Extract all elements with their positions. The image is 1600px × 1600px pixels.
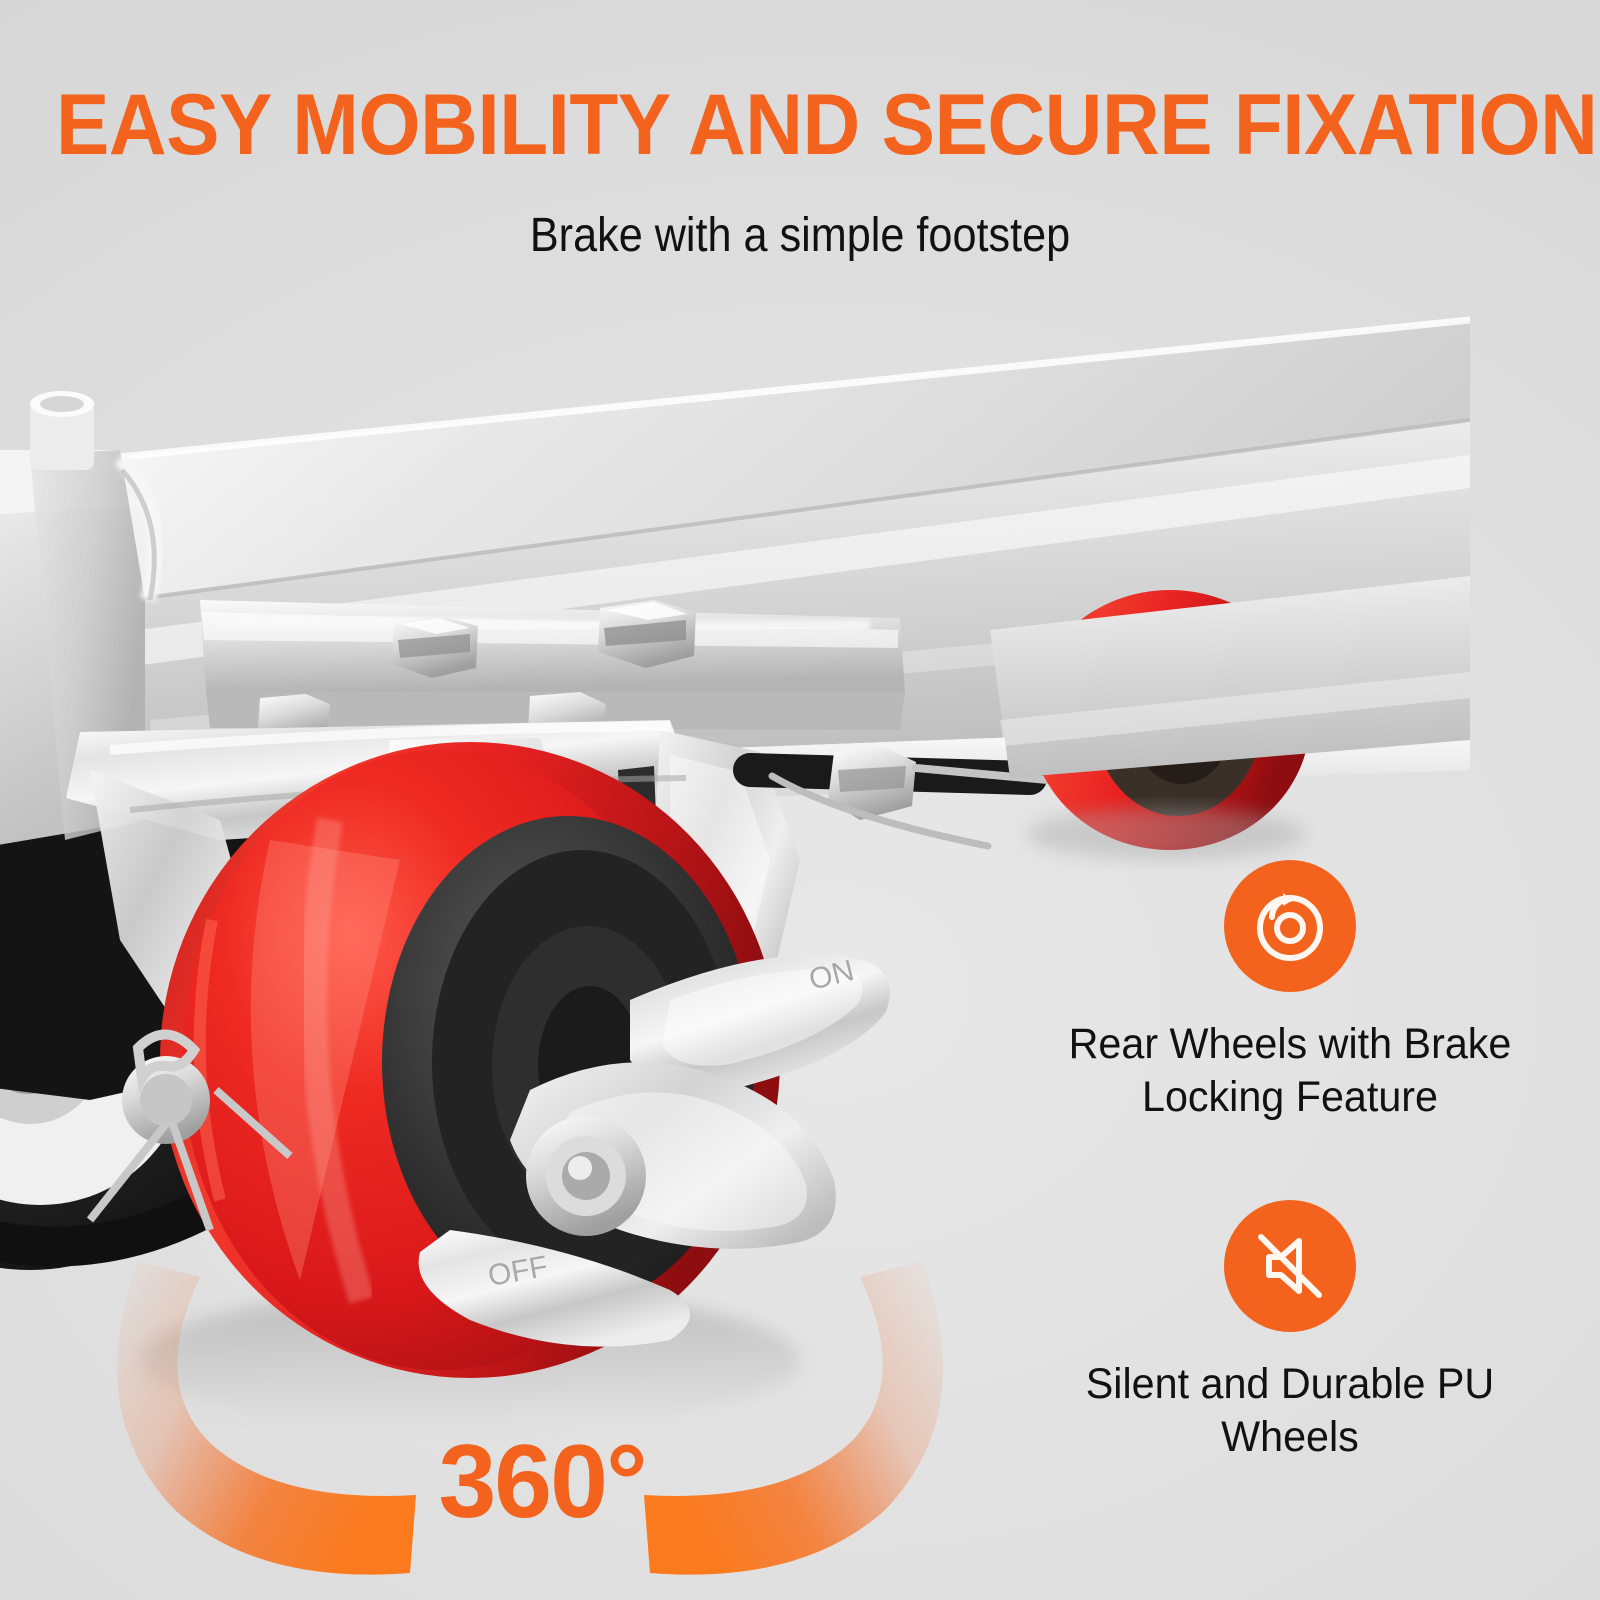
product-feature-image: ON OFF bbox=[0, 0, 1600, 1600]
cotter-pin bbox=[750, 748, 1048, 846]
page-subtitle: Brake with a simple footstep bbox=[80, 212, 1520, 260]
page-title: EASY MOBILITY AND SECURE FIXATION bbox=[56, 82, 1544, 168]
brake-disc-icon bbox=[1224, 860, 1356, 992]
feature-brake-lock: Rear Wheels with Brake Locking Feature bbox=[1010, 860, 1570, 1124]
rotation-arc-left-icon bbox=[117, 1261, 416, 1575]
rotation-degrees-label: 360° bbox=[402, 1430, 682, 1534]
rotation-arc-right-icon bbox=[644, 1261, 943, 1575]
feature-brake-lock-text: Rear Wheels with Brake Locking Feature bbox=[1021, 1018, 1559, 1124]
mute-speaker-icon bbox=[1224, 1200, 1356, 1332]
feature-silent-wheels: Silent and Durable PU Wheels bbox=[1010, 1200, 1570, 1464]
feature-silent-wheels-text: Silent and Durable PU Wheels bbox=[1021, 1358, 1559, 1464]
rear-wheel-shadow bbox=[1026, 808, 1306, 860]
